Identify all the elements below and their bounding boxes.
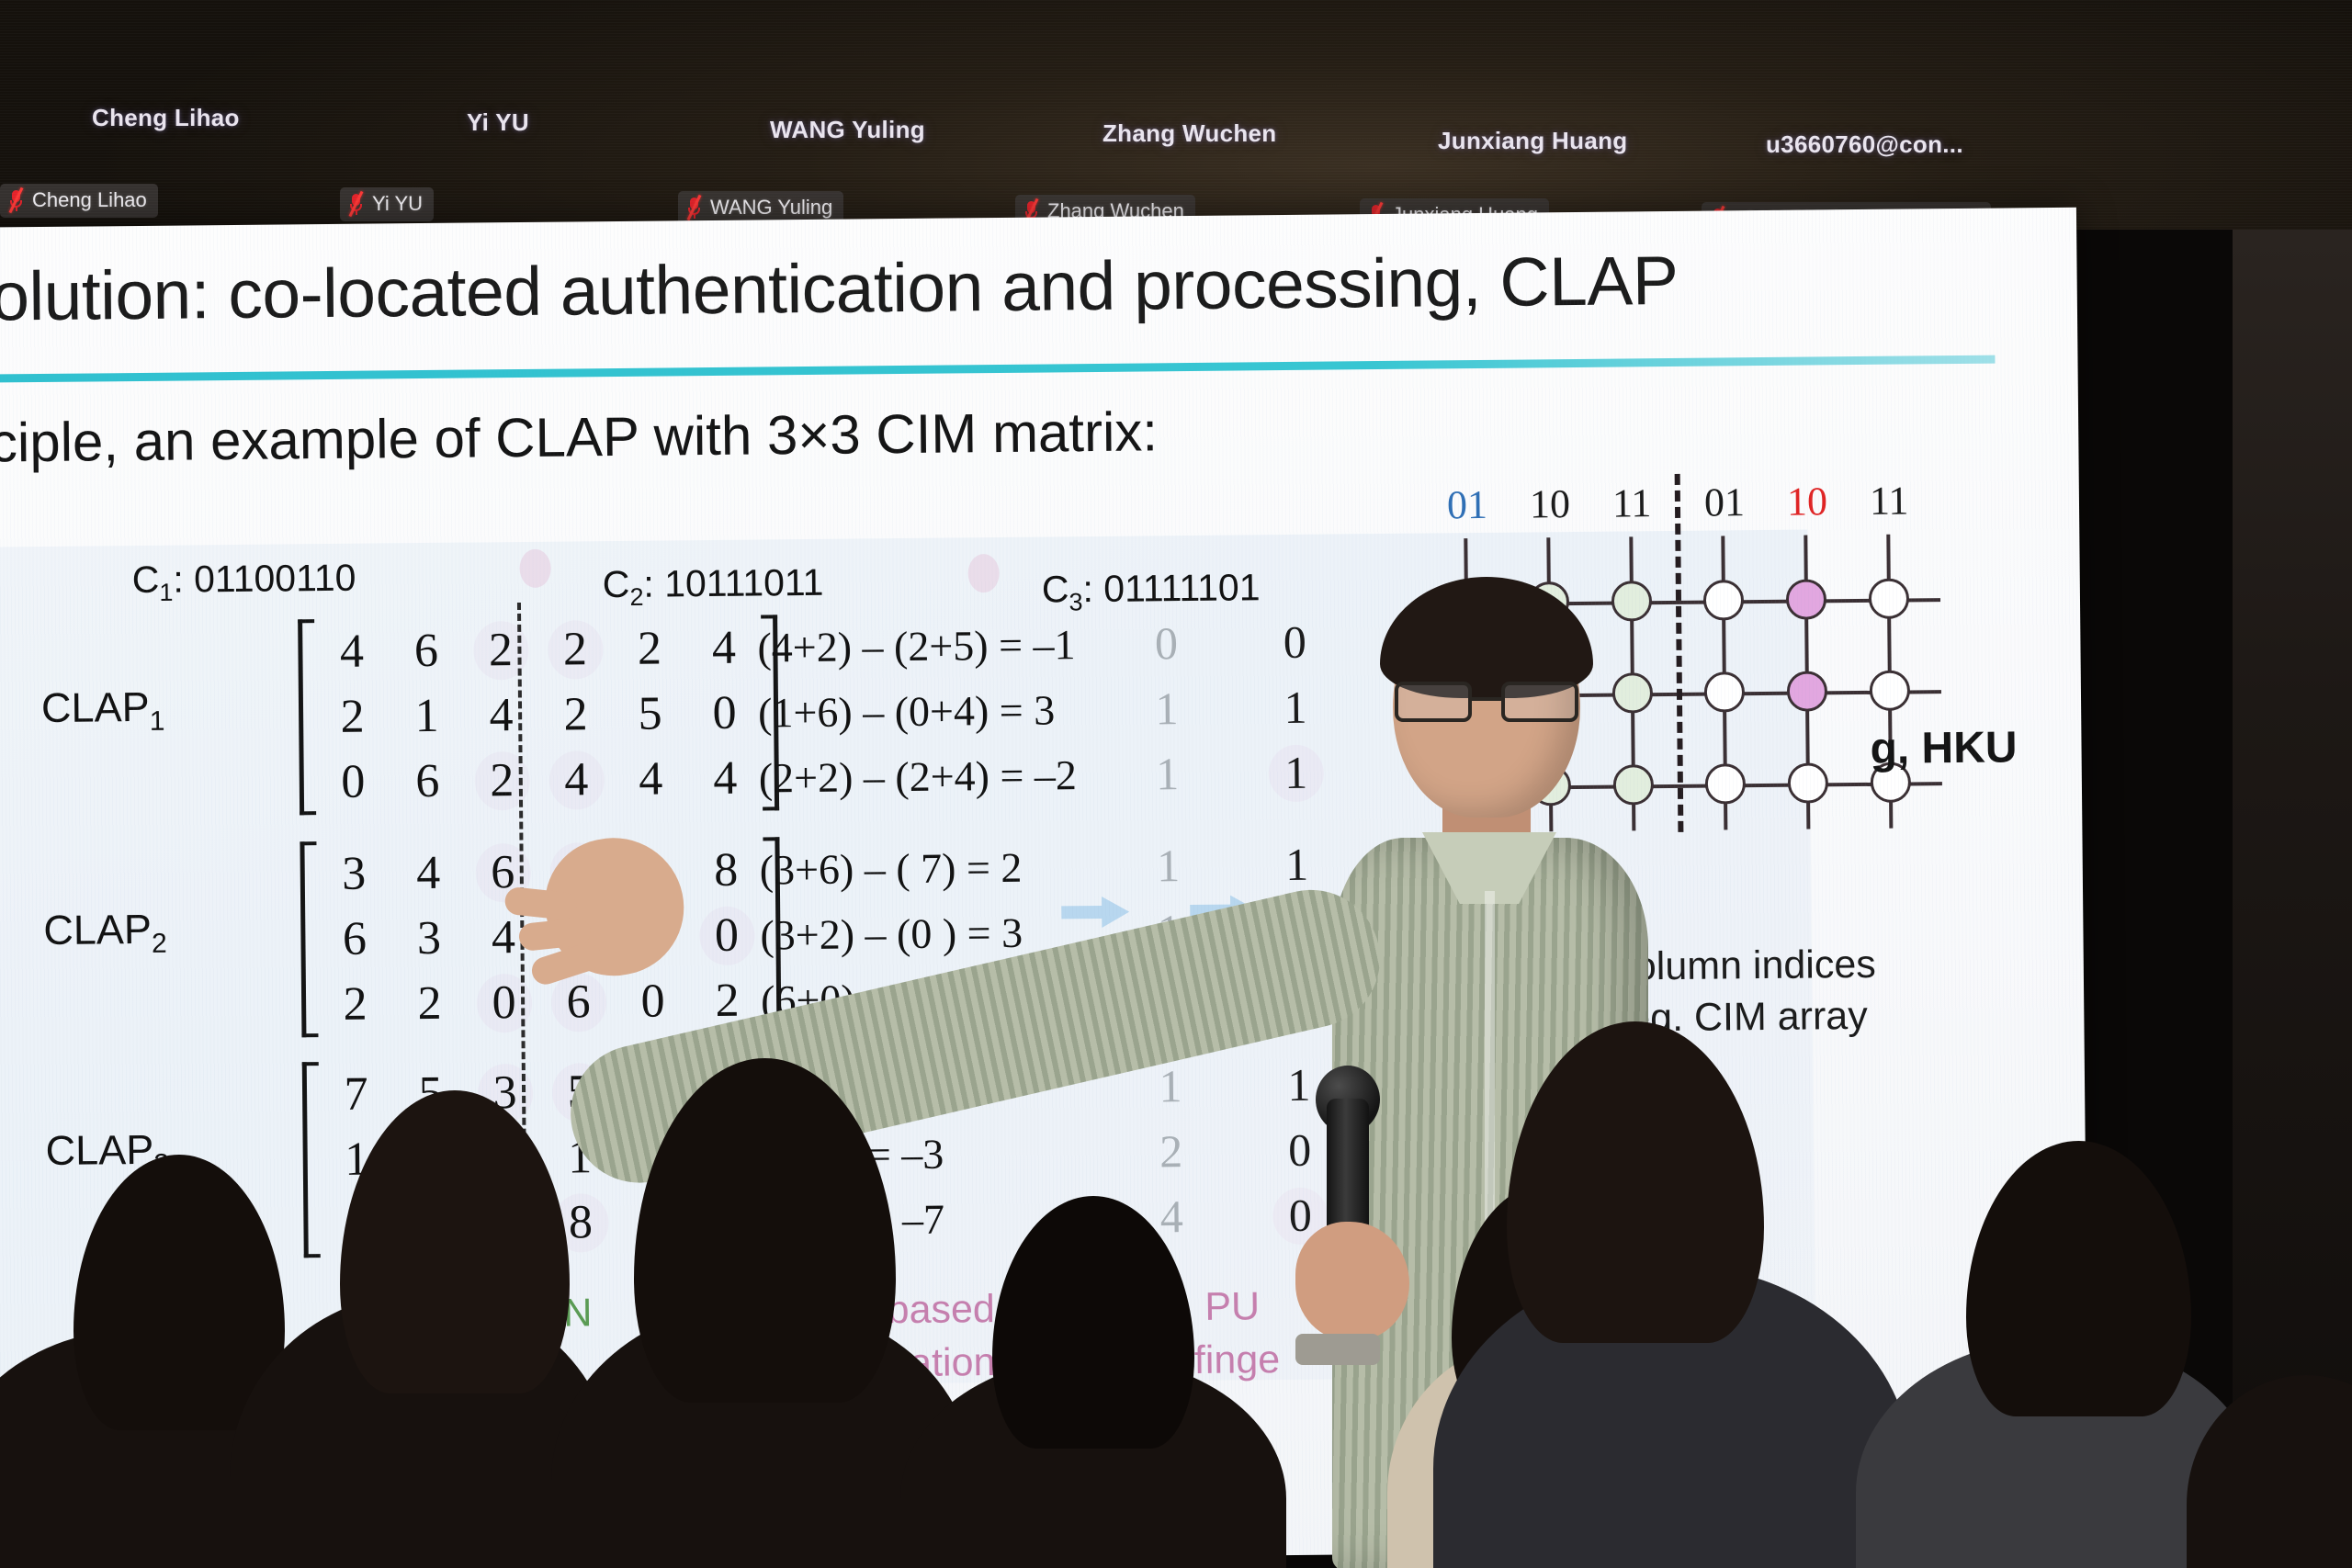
matrix-cell: 5 xyxy=(613,686,688,741)
participant-name-row: Cheng Lihao Yi YU WANG Yuling Zhang Wuch… xyxy=(0,0,2352,175)
slide-title: Solution: co-located authentication and … xyxy=(0,238,1995,336)
cim-node xyxy=(1786,579,1826,619)
participant-name: Zhang Wuchen xyxy=(1102,119,1276,148)
clap-equations-1: (4+2) – (2+5) = –1 (1+6) – (0+4) = 3 (2+… xyxy=(757,612,1077,810)
matrix-cell: 3 xyxy=(316,846,391,901)
title-underline-rule xyxy=(0,355,1996,384)
challenge-vector-1: C1: 01100110 xyxy=(131,557,356,608)
audience-head xyxy=(340,1090,570,1393)
cim-col-header: 10 xyxy=(1530,480,1570,527)
matrix-cell: 2 xyxy=(537,622,613,677)
equation-line: (3+2) – (0 ) = 3 xyxy=(760,900,1023,968)
cim-node xyxy=(1703,580,1744,620)
clap-row-label-2: CLAP2 xyxy=(43,906,167,961)
matrix-cell: 6 xyxy=(317,911,392,966)
participant-tag-label: WANG Yuling xyxy=(710,196,832,220)
matrix-cell: 2 xyxy=(465,753,540,808)
matrix-cell: 6 xyxy=(389,624,464,679)
response-bit: 1 xyxy=(1135,676,1200,742)
decorative-dot xyxy=(967,554,999,592)
matrix-cell: 0 xyxy=(689,908,764,963)
challenge-vector-3: C3: 01111101 xyxy=(1042,566,1261,616)
microphone-muted-icon xyxy=(348,192,364,216)
response-bit: 0 xyxy=(1134,611,1199,677)
matrix-cell: 0 xyxy=(316,754,391,809)
response-bit: 1 xyxy=(1135,741,1200,807)
participant-name: Cheng Lihao xyxy=(92,104,240,132)
clap-response-gray-1: 0 1 1 xyxy=(1134,611,1200,807)
microphone-muted-icon xyxy=(8,188,24,212)
audience-head xyxy=(1507,1021,1764,1343)
participant-name: u3660760@con... xyxy=(1766,130,1963,159)
microphone-muted-icon xyxy=(686,196,702,220)
cim-column-headers: 01 10 11 01 10 11 xyxy=(1445,476,2015,531)
matrix-cell: 4 xyxy=(464,688,539,743)
audience-silhouettes xyxy=(0,1001,2352,1568)
presenter-glasses xyxy=(1393,682,1588,724)
presenter-hair xyxy=(1380,577,1593,698)
matrix-cell: 3 xyxy=(391,911,467,966)
clap-matrix-1: 4 6 2 2 2 4 2 1 4 2 5 0 0 6 xyxy=(298,615,779,815)
matrix-cell: 4 xyxy=(539,752,615,807)
cim-col-header: 01 xyxy=(1704,479,1745,525)
matrix-cell: 2 xyxy=(463,623,538,678)
equation-line: (4+2) – (2+5) = –1 xyxy=(757,612,1076,680)
participant-name: Yi YU xyxy=(467,108,529,137)
matrix-cell: 2 xyxy=(538,687,614,742)
equation-line: (1+6) – (0+4) = 3 xyxy=(758,677,1077,745)
participant-name: WANG Yuling xyxy=(770,116,925,144)
challenge-vector-2: C2: 10111011 xyxy=(603,561,824,612)
cim-col-header: 11 xyxy=(1612,479,1652,526)
audience-head xyxy=(634,1058,896,1403)
cim-node xyxy=(1788,762,1828,803)
matrix-cell: 4 xyxy=(314,624,390,679)
audience-head xyxy=(992,1196,1194,1449)
video-call-bar: Cheng Lihao Yi YU WANG Yuling Zhang Wuch… xyxy=(0,0,2352,230)
slide-subtitle: inciple, an example of CLAP with 3×3 CIM… xyxy=(0,397,1510,475)
matrix-cell: 2 xyxy=(315,689,390,744)
equation-line: (2+2) – (2+4) = –2 xyxy=(758,742,1077,810)
participant-tag[interactable]: Cheng Lihao xyxy=(0,184,158,218)
cim-node xyxy=(1869,578,1909,618)
equation-line: (3+6) – ( 7) = 2 xyxy=(759,835,1022,903)
participant-tag-label: Cheng Lihao xyxy=(32,188,147,212)
screenshot-root: Cheng Lihao Yi YU WANG Yuling Zhang Wuch… xyxy=(0,0,2352,1568)
matrix-cell: 2 xyxy=(612,621,687,676)
matrix-cell: 8 xyxy=(688,842,763,897)
response-bit: 1 xyxy=(1136,833,1201,899)
cim-node xyxy=(1705,763,1746,804)
participant-tag-label: Yi YU xyxy=(372,192,423,216)
matrix-row: 0 6 2 4 4 4 xyxy=(315,745,763,815)
cim-node xyxy=(1870,670,1910,710)
matrix-cell: 1 xyxy=(390,689,465,744)
matrix-row: 4 6 2 2 2 4 xyxy=(314,615,762,684)
participant-tag[interactable]: Yi YU xyxy=(340,187,434,221)
cim-node xyxy=(1787,671,1827,711)
slide-right-edge-text: g, HKU xyxy=(1870,722,2018,774)
matrix-row: 2 1 4 2 5 0 xyxy=(315,680,763,750)
matrix-cell: 4 xyxy=(686,620,762,675)
matrix-cell: 0 xyxy=(687,685,763,740)
cim-col-header: 11 xyxy=(1870,477,1909,524)
participant-name: Junxiang Huang xyxy=(1438,127,1627,155)
clap-row-label-1: CLAP1 xyxy=(41,683,165,739)
matrix-cell: 6 xyxy=(390,754,466,809)
matrix-cell: 4 xyxy=(688,750,763,806)
flow-arrow-icon xyxy=(1061,897,1129,929)
matrix-cell: 4 xyxy=(614,751,689,807)
hku-crest-logo: 明 德 格 物 SAPIENTIA ET VIRTUS xyxy=(2068,220,2089,369)
decorative-dot xyxy=(519,549,550,588)
cim-col-header: 10 xyxy=(1787,478,1827,525)
audience-head xyxy=(1966,1141,2191,1416)
cim-col-header: 01 xyxy=(1447,481,1487,528)
matrix-cell: 4 xyxy=(390,846,466,901)
cim-node xyxy=(1704,671,1745,712)
